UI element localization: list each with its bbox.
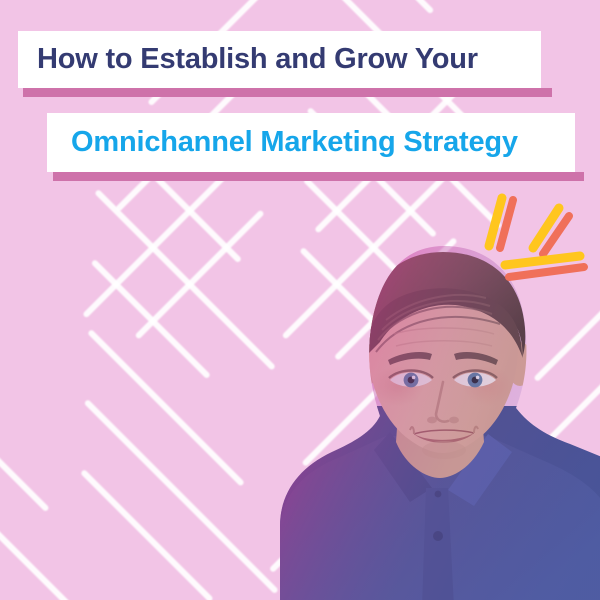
headline-bar-secondary-plate: Omnichannel Marketing Strategy — [47, 113, 575, 172]
slash-mark-3 — [505, 256, 584, 277]
headline-line-2: Omnichannel Marketing Strategy — [71, 126, 518, 159]
poster-canvas: How to Establish and Grow Your Omnichann… — [0, 0, 600, 600]
slash-mark-1 — [489, 198, 513, 248]
slash-mark-2 — [533, 208, 569, 254]
slash-accent-marks — [480, 190, 600, 300]
headline-bar-primary: How to Establish and Grow Your — [18, 31, 552, 99]
hatch-line — [80, 469, 214, 600]
headline-bar-secondary: Omnichannel Marketing Strategy — [47, 113, 584, 183]
headline-bar-primary-plate: How to Establish and Grow Your — [18, 31, 541, 88]
hatch-line — [87, 329, 245, 487]
hatch-line — [317, 0, 434, 14]
headline-bar-primary-shadow — [23, 88, 552, 97]
headline-bar-secondary-shadow — [53, 172, 584, 181]
headline-line-1: How to Establish and Grow Your — [37, 43, 478, 76]
hatch-line — [0, 341, 50, 512]
